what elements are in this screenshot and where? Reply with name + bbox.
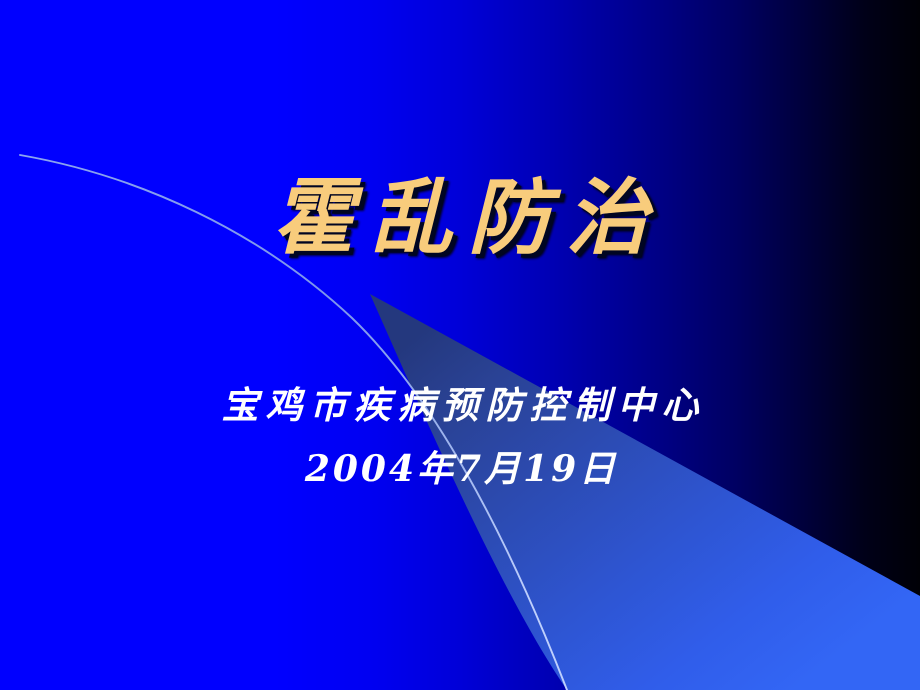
slide-content: 霍乱防治 宝鸡市疾病预防控制中心 2004年7月19日 bbox=[0, 0, 920, 690]
slide-title: 霍乱防治 bbox=[0, 168, 920, 268]
slide-subtitle-date: 2004年7月19日 bbox=[0, 447, 920, 491]
presentation-slide: 霍乱防治 宝鸡市疾病预防控制中心 2004年7月19日 bbox=[0, 0, 920, 690]
slide-subtitle-organization: 宝鸡市疾病预防控制中心 bbox=[0, 383, 920, 427]
